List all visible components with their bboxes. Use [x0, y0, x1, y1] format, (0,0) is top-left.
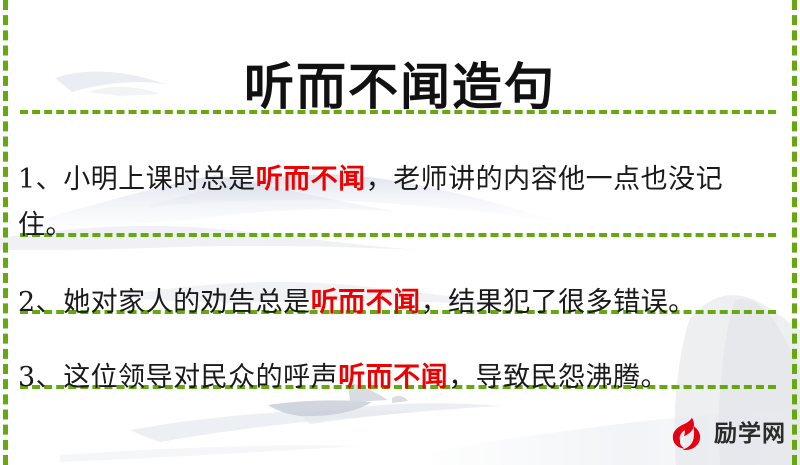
idiom-highlight-1: 听而不闻 — [256, 164, 366, 195]
sentence-text-before-3: 这位领导对民众的呼声 — [63, 362, 338, 393]
sentence-index-3: 3、 — [18, 362, 63, 393]
sentence-index-2: 2、 — [18, 287, 63, 318]
sentence-item-2: 2、她对家人的劝告总是听而不闻，结果犯了很多错误。 — [18, 280, 774, 326]
sentence-text-after-3: ，导致民怨沸腾。 — [448, 362, 668, 393]
sentence-text-before-2: 她对家人的劝告总是 — [63, 287, 311, 318]
sentence-index-1: 1、 — [18, 164, 63, 195]
flame-swirl-icon — [665, 413, 707, 455]
page-title: 听而不闻造句 — [0, 56, 800, 118]
sentence-item-1: 1、小明上课时总是听而不闻，老师讲的内容他一点也没记住。 — [18, 157, 774, 249]
sentence-text-before-1: 小明上课时总是 — [63, 164, 256, 195]
idiom-highlight-3: 听而不闻 — [338, 362, 448, 393]
site-logo[interactable]: 励学网 — [665, 413, 786, 455]
sentence-example-card: 听而不闻造句 1、小明上课时总是听而不闻，老师讲的内容他一点也没记住。 2、她对… — [0, 0, 800, 465]
idiom-highlight-2: 听而不闻 — [311, 287, 421, 318]
sentence-item-3: 3、这位领导对民众的呼声听而不闻，导致民怨沸腾。 — [18, 355, 774, 401]
brand-name: 励学网 — [714, 413, 786, 455]
sentence-text-after-2: ，结果犯了很多错误。 — [421, 287, 696, 318]
